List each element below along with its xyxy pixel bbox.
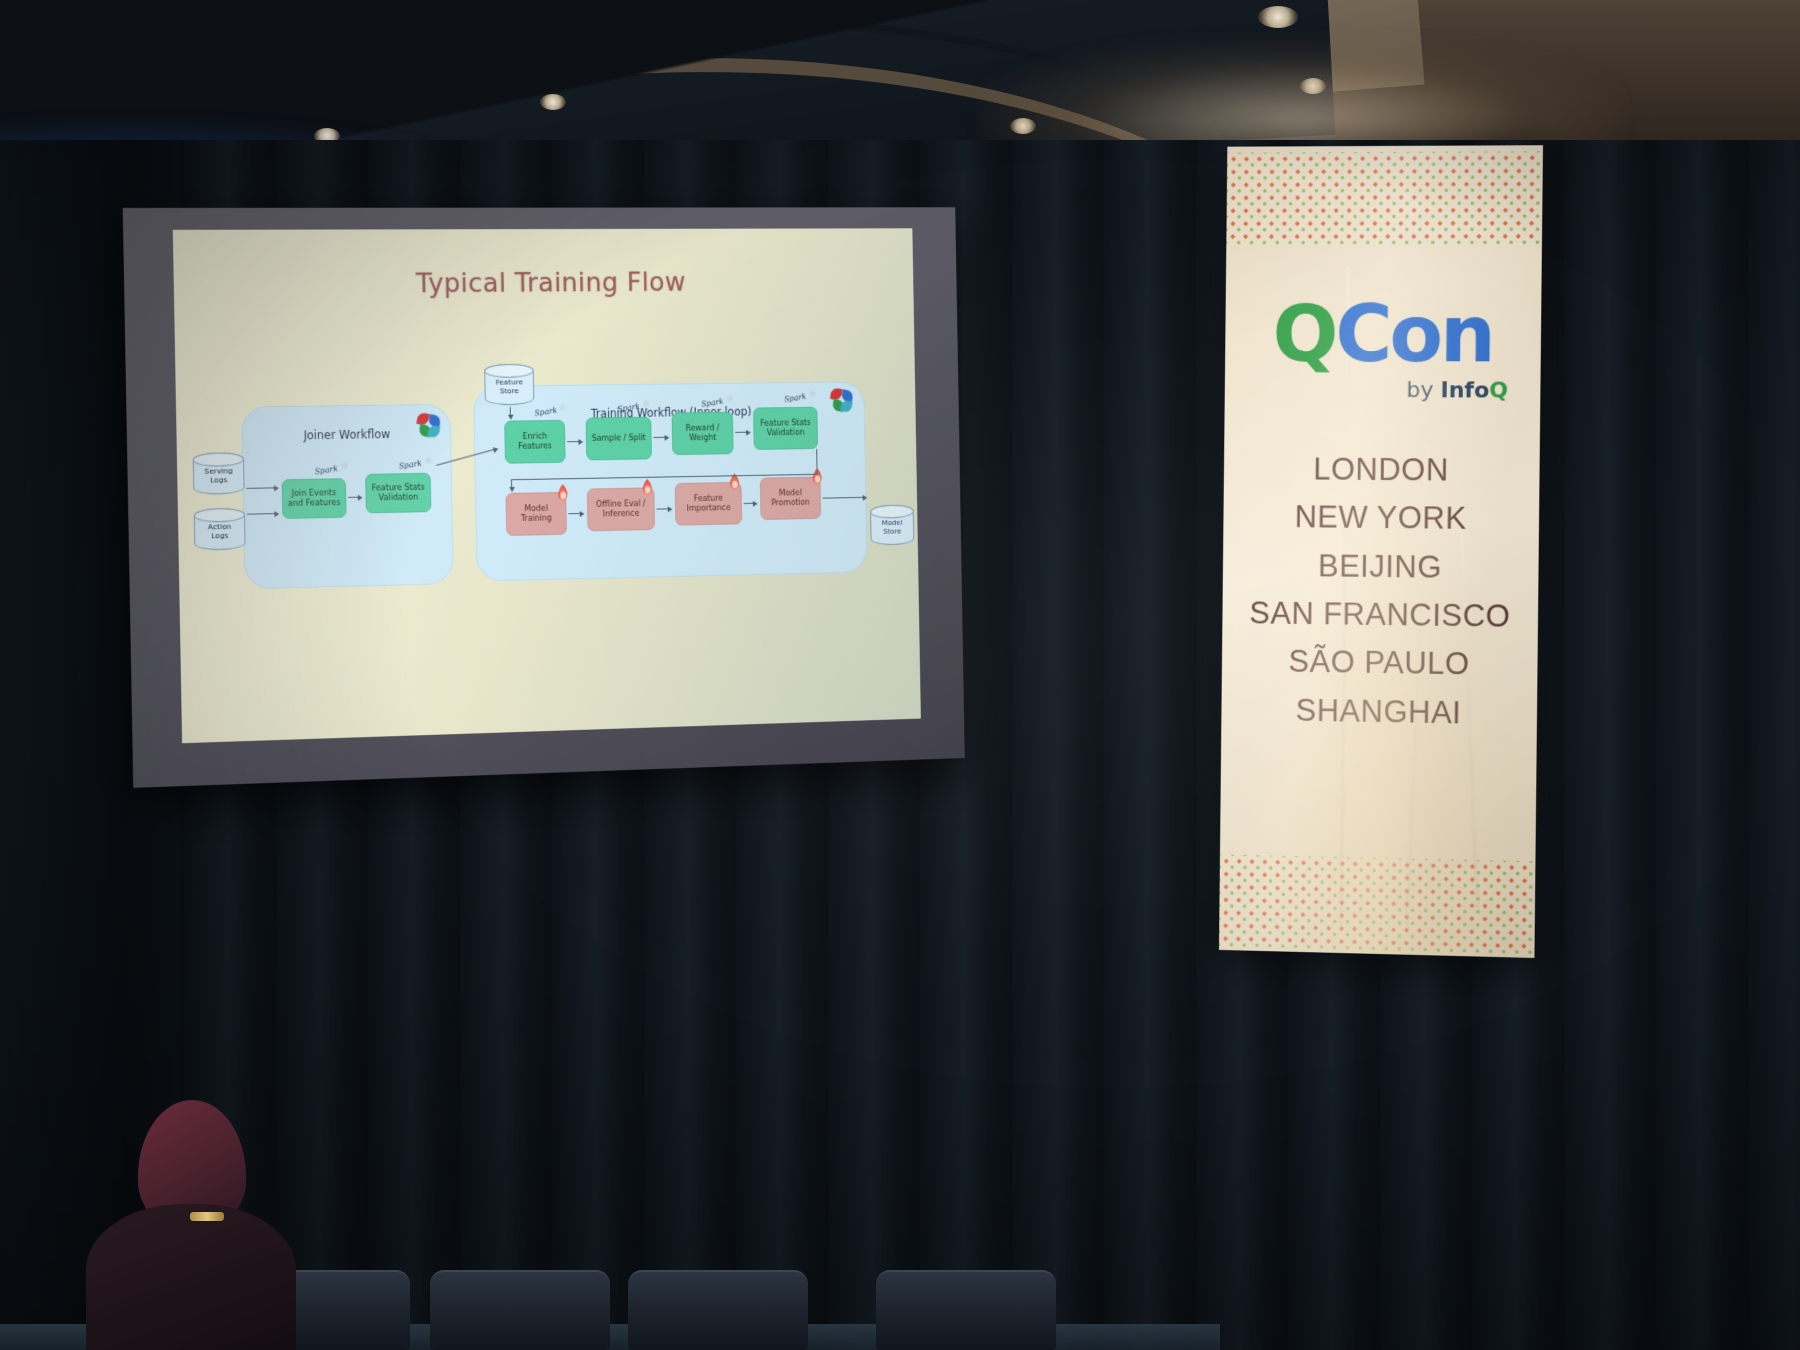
hair-clip	[190, 1212, 224, 1221]
chair	[876, 1270, 1056, 1350]
photo-scene: Typical Training Flow Joiner Workflow Tr…	[0, 0, 1800, 1350]
ceiling-spotlight	[540, 94, 566, 110]
ceiling-spotlight	[1258, 6, 1298, 28]
audience-body	[86, 1204, 296, 1350]
chair	[628, 1270, 808, 1350]
chair	[430, 1270, 610, 1350]
audience-member	[86, 1100, 296, 1350]
